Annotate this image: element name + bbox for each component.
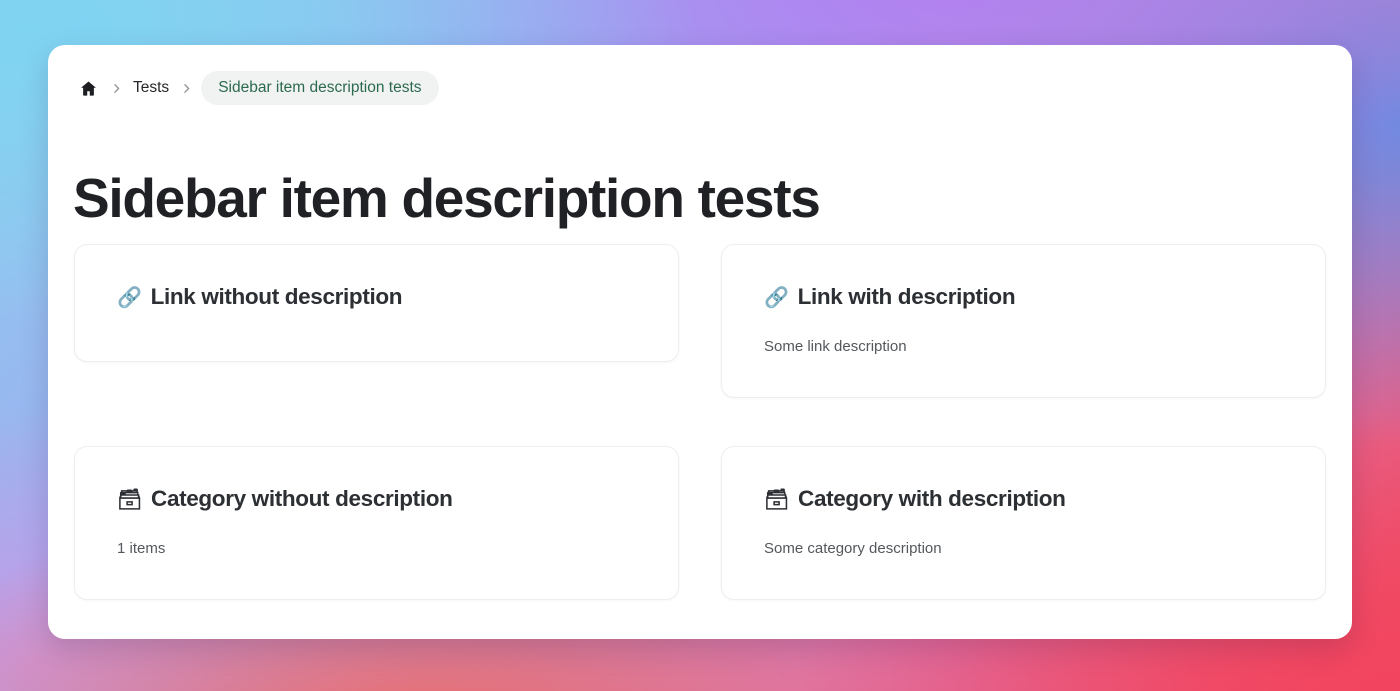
chevron-right-icon-2 (171, 75, 201, 101)
card-header: 🗃 Category with description (764, 486, 1283, 512)
card-category-without-description[interactable]: 🗃 Category without description 1 items (74, 446, 679, 600)
card-title: Category without description (151, 486, 452, 512)
page-title: Sidebar item description tests (73, 169, 820, 228)
card-link-without-description[interactable]: 🔗 Link without description (74, 244, 679, 362)
card-file-box-emoji-icon: 🗃 (764, 489, 789, 509)
card-header: 🔗 Link without description (117, 284, 636, 310)
card-header: 🗃 Category without description (117, 486, 636, 512)
card-link-with-description[interactable]: 🔗 Link with description Some link descri… (721, 244, 1326, 398)
card-grid: 🔗 Link without description 🔗 Link with d… (74, 244, 1326, 600)
card-subtitle: Some category description (764, 538, 1283, 559)
card-title: Category with description (798, 486, 1066, 512)
breadcrumb-item-tests[interactable]: Tests (131, 75, 171, 101)
link-emoji-icon: 🔗 (117, 287, 142, 307)
link-emoji-icon: 🔗 (764, 287, 789, 307)
card-title: Link with description (798, 284, 1016, 310)
card-title: Link without description (151, 284, 403, 310)
content-panel: Tests Sidebar item description tests Sid… (48, 45, 1352, 639)
card-file-box-emoji-icon: 🗃 (117, 489, 142, 509)
chevron-right-icon-1 (101, 75, 131, 101)
card-header: 🔗 Link with description (764, 284, 1283, 310)
card-subtitle: Some link description (764, 336, 1283, 357)
card-category-with-description[interactable]: 🗃 Category with description Some categor… (721, 446, 1326, 600)
breadcrumb: Tests Sidebar item description tests (75, 71, 439, 105)
card-item-count: 1 items (117, 538, 636, 559)
breadcrumb-item-current[interactable]: Sidebar item description tests (201, 71, 438, 105)
home-icon[interactable] (75, 75, 101, 101)
